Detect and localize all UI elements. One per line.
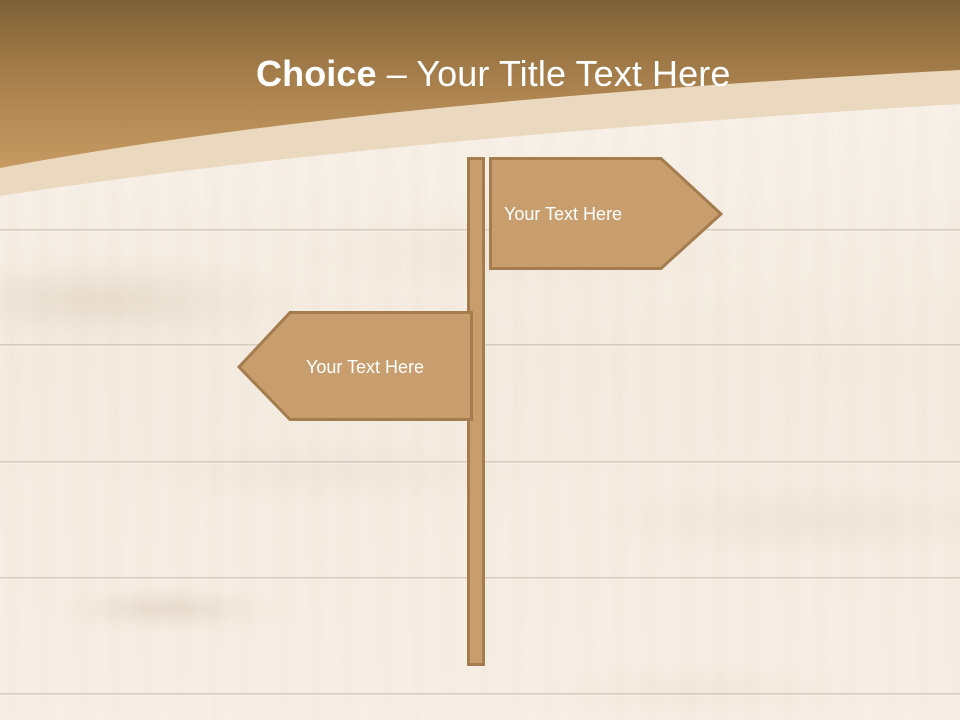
sign-left-label[interactable]: Your Text Here	[306, 356, 424, 378]
slide-canvas: Choice – Your Title Text Here Your Text …	[0, 0, 960, 720]
sign-top-label[interactable]: Your Text Here	[504, 203, 622, 225]
signpost-graphic: Your Text Here Your Text Here	[0, 0, 960, 720]
